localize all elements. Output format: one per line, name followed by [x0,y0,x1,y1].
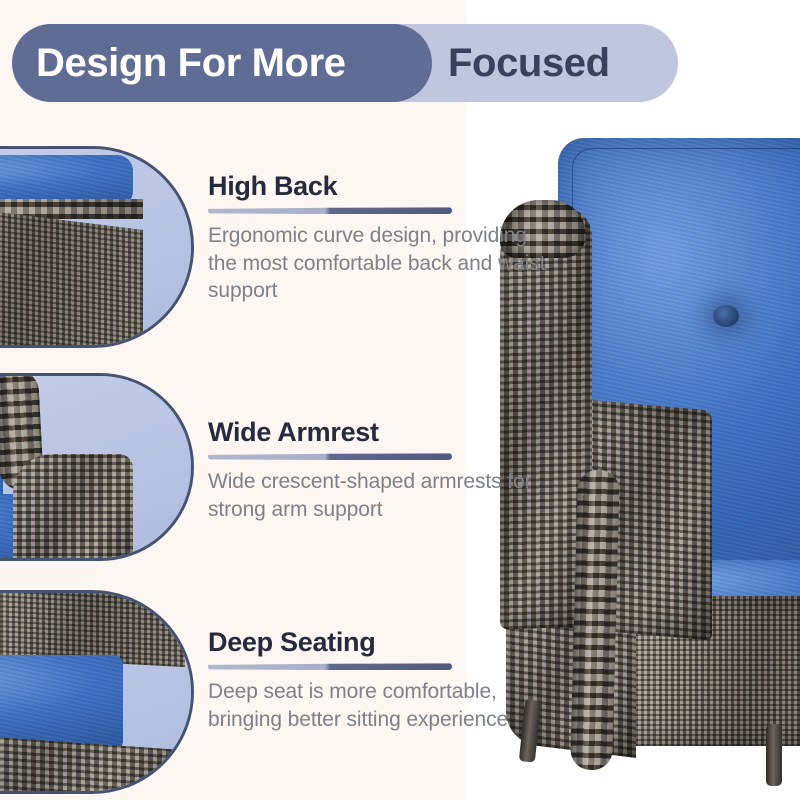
feature-high-back: High Back Ergonomic curve design, provid… [208,172,558,304]
feature-body: Deep seat is more comfortable, bringing … [208,678,558,733]
feature-title: High Back [208,172,558,200]
thumbnail-high-back [0,146,194,348]
feature-body: Ergonomic curve design, providing the mo… [208,222,558,304]
banner-title-primary: Design For More [36,24,346,102]
chair-leg-back [766,724,782,786]
banner-title-secondary: Focused [448,24,610,102]
detail-arm-weave [13,454,133,561]
feature-deep-seating: Deep Seating Deep seat is more comfortab… [208,628,558,733]
feature-divider [208,453,452,460]
feature-title: Wide Armrest [208,418,558,446]
feature-divider [208,207,452,214]
cushion-tuft-button [713,305,739,327]
feature-body: Wide crescent-shaped armrests for strong… [208,468,558,523]
infographic-page: Design For More Focused High Back Ergono… [0,0,800,800]
feature-title: Deep Seating [208,628,558,656]
feature-wide-armrest: Wide Armrest Wide crescent-shaped armres… [208,418,558,523]
feature-divider [208,663,452,670]
detail-deep-seat-cushion [0,655,123,751]
thumbnail-deep-seating [0,590,194,794]
chair-rope-edge [570,470,620,771]
thumbnail-wide-armrest [0,373,194,561]
